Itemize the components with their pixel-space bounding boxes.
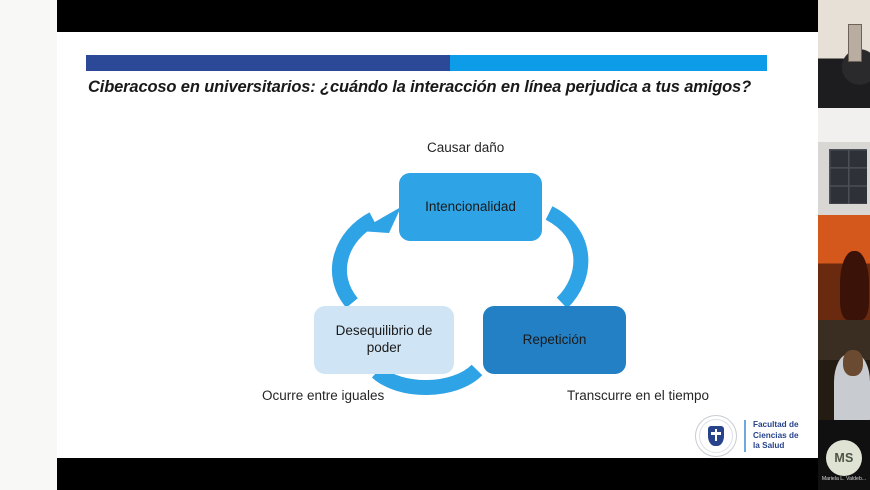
participant-video-icon bbox=[818, 108, 870, 215]
arrow-intencionalidad-to-repeticion bbox=[549, 213, 581, 303]
participant-tile-2[interactable] bbox=[818, 108, 870, 215]
title-rule-light-segment bbox=[450, 55, 767, 71]
diagram-caption-transcurre-en-el-tiempo: Transcurre en el tiempo bbox=[567, 388, 709, 403]
shield-cross-icon bbox=[708, 426, 724, 446]
participant-tile-avatar[interactable]: MS Mariela L. Valdeb... bbox=[818, 420, 870, 490]
diagram-node-desequilibrio[interactable]: Desequilibrio de poder bbox=[314, 306, 454, 374]
faculty-logo: Facultad de Ciencias de la Salud bbox=[695, 413, 810, 458]
participant-tile-3[interactable] bbox=[818, 215, 870, 320]
faculty-logo-line-1: Facultad de bbox=[753, 420, 799, 431]
title-rule-dark-segment bbox=[86, 55, 450, 71]
diagram-caption-ocurre-entre-iguales: Ocurre entre iguales bbox=[262, 388, 384, 403]
diagram-caption-causar-dano: Causar daño bbox=[427, 140, 504, 155]
participant-tile-1[interactable] bbox=[818, 0, 870, 108]
logo-divider bbox=[744, 420, 746, 452]
presentation-stage: Ciberacoso en universitarios: ¿cuándo la… bbox=[57, 0, 818, 490]
faculty-logo-text: Facultad de Ciencias de la Salud bbox=[753, 420, 799, 452]
participant-video-icon bbox=[818, 215, 870, 320]
faculty-logo-line-2: Ciencias de bbox=[753, 431, 799, 442]
faculty-logo-line-3: la Salud bbox=[753, 441, 799, 452]
screen-share-view: Ciberacoso en universitarios: ¿cuándo la… bbox=[0, 0, 870, 490]
slide-canvas: Ciberacoso en universitarios: ¿cuándo la… bbox=[57, 32, 818, 458]
arrow-desequilibrio-to-intencionalidad bbox=[339, 219, 373, 303]
diagram-node-intencionalidad[interactable]: Intencionalidad bbox=[399, 173, 542, 241]
participant-tile-4[interactable] bbox=[818, 320, 870, 420]
participant-video-icon bbox=[818, 0, 870, 108]
title-rule bbox=[86, 55, 767, 71]
participant-name-label: Mariela L. Valdeb... bbox=[818, 476, 870, 482]
university-shield-icon bbox=[695, 415, 737, 457]
diagram-node-repeticion[interactable]: Repetición bbox=[483, 306, 626, 374]
avatar: MS bbox=[826, 440, 862, 476]
participant-video-rail[interactable]: MS Mariela L. Valdeb... bbox=[818, 0, 870, 490]
slide-title: Ciberacoso en universitarios: ¿cuándo la… bbox=[88, 78, 788, 97]
cycle-diagram: Intencionalidad Repetición Desequilibrio… bbox=[177, 127, 697, 397]
participant-video-icon bbox=[818, 320, 870, 420]
